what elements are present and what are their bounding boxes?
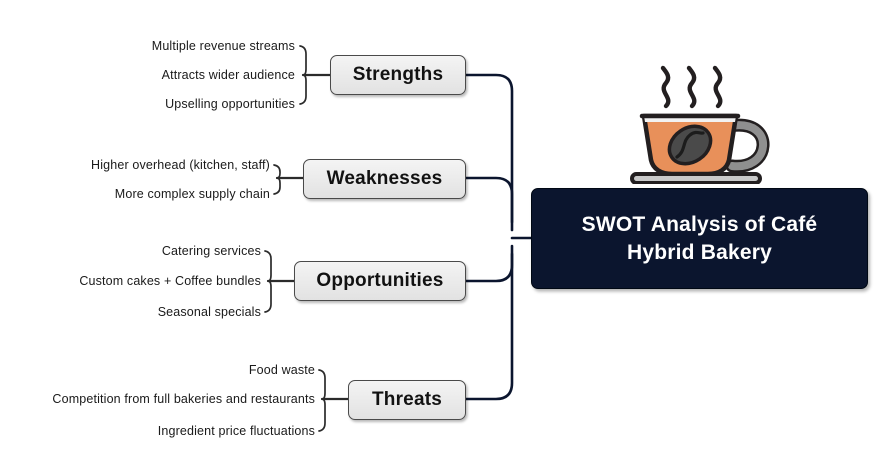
subitem-weaknesses-2[interactable]: More complex supply chain bbox=[115, 187, 270, 201]
bracket-strengths bbox=[300, 46, 306, 104]
subitem-threats-3[interactable]: Ingredient price fluctuations bbox=[158, 424, 315, 438]
central-node-title-line2: Hybrid Bakery bbox=[627, 241, 772, 264]
steam-line-2 bbox=[689, 68, 694, 106]
wire-branch-weaknesses bbox=[466, 178, 512, 230]
branch-label-strengths: Strengths bbox=[353, 64, 443, 86]
branch-box-threats[interactable]: Threats bbox=[348, 380, 466, 420]
branch-label-weaknesses: Weaknesses bbox=[327, 168, 443, 190]
wire-branch-opportunities bbox=[466, 246, 512, 281]
branch-box-weaknesses[interactable]: Weaknesses bbox=[303, 159, 466, 199]
branch-box-strengths[interactable]: Strengths bbox=[330, 55, 466, 95]
cup-saucer bbox=[632, 174, 760, 183]
wire-branch-threats bbox=[466, 254, 512, 399]
subitem-strengths-1[interactable]: Multiple revenue streams bbox=[152, 39, 295, 53]
mind-map-canvas: SWOT Analysis of Café Hybrid Bakery Stre… bbox=[0, 0, 885, 473]
subitem-strengths-2[interactable]: Attracts wider audience bbox=[162, 68, 295, 82]
central-node-title: SWOT Analysis of Café Hybrid Bakery bbox=[582, 211, 818, 267]
central-node-title-line1: SWOT Analysis of Café bbox=[582, 213, 818, 236]
coffee-cup-icon bbox=[630, 56, 770, 184]
wire-branch-strengths bbox=[466, 75, 512, 222]
subitem-weaknesses-1[interactable]: Higher overhead (kitchen, staff) bbox=[91, 158, 270, 172]
subitem-opportunities-1[interactable]: Catering services bbox=[162, 244, 261, 258]
subitem-threats-2[interactable]: Competition from full bakeries and resta… bbox=[52, 392, 315, 406]
subitem-threats-1[interactable]: Food waste bbox=[249, 363, 315, 377]
branch-box-opportunities[interactable]: Opportunities bbox=[294, 261, 466, 301]
subitem-strengths-3[interactable]: Upselling opportunities bbox=[165, 97, 295, 111]
bracket-opportunities bbox=[265, 251, 271, 312]
bracket-threats bbox=[319, 370, 325, 431]
bracket-weaknesses bbox=[274, 165, 280, 194]
steam-line-3 bbox=[715, 68, 720, 106]
branch-label-threats: Threats bbox=[372, 389, 442, 411]
subitem-opportunities-3[interactable]: Seasonal specials bbox=[158, 305, 261, 319]
subitem-opportunities-2[interactable]: Custom cakes + Coffee bundles bbox=[79, 274, 261, 288]
central-node[interactable]: SWOT Analysis of Café Hybrid Bakery bbox=[531, 188, 868, 289]
branch-label-opportunities: Opportunities bbox=[316, 270, 443, 292]
steam-line-1 bbox=[663, 68, 668, 106]
